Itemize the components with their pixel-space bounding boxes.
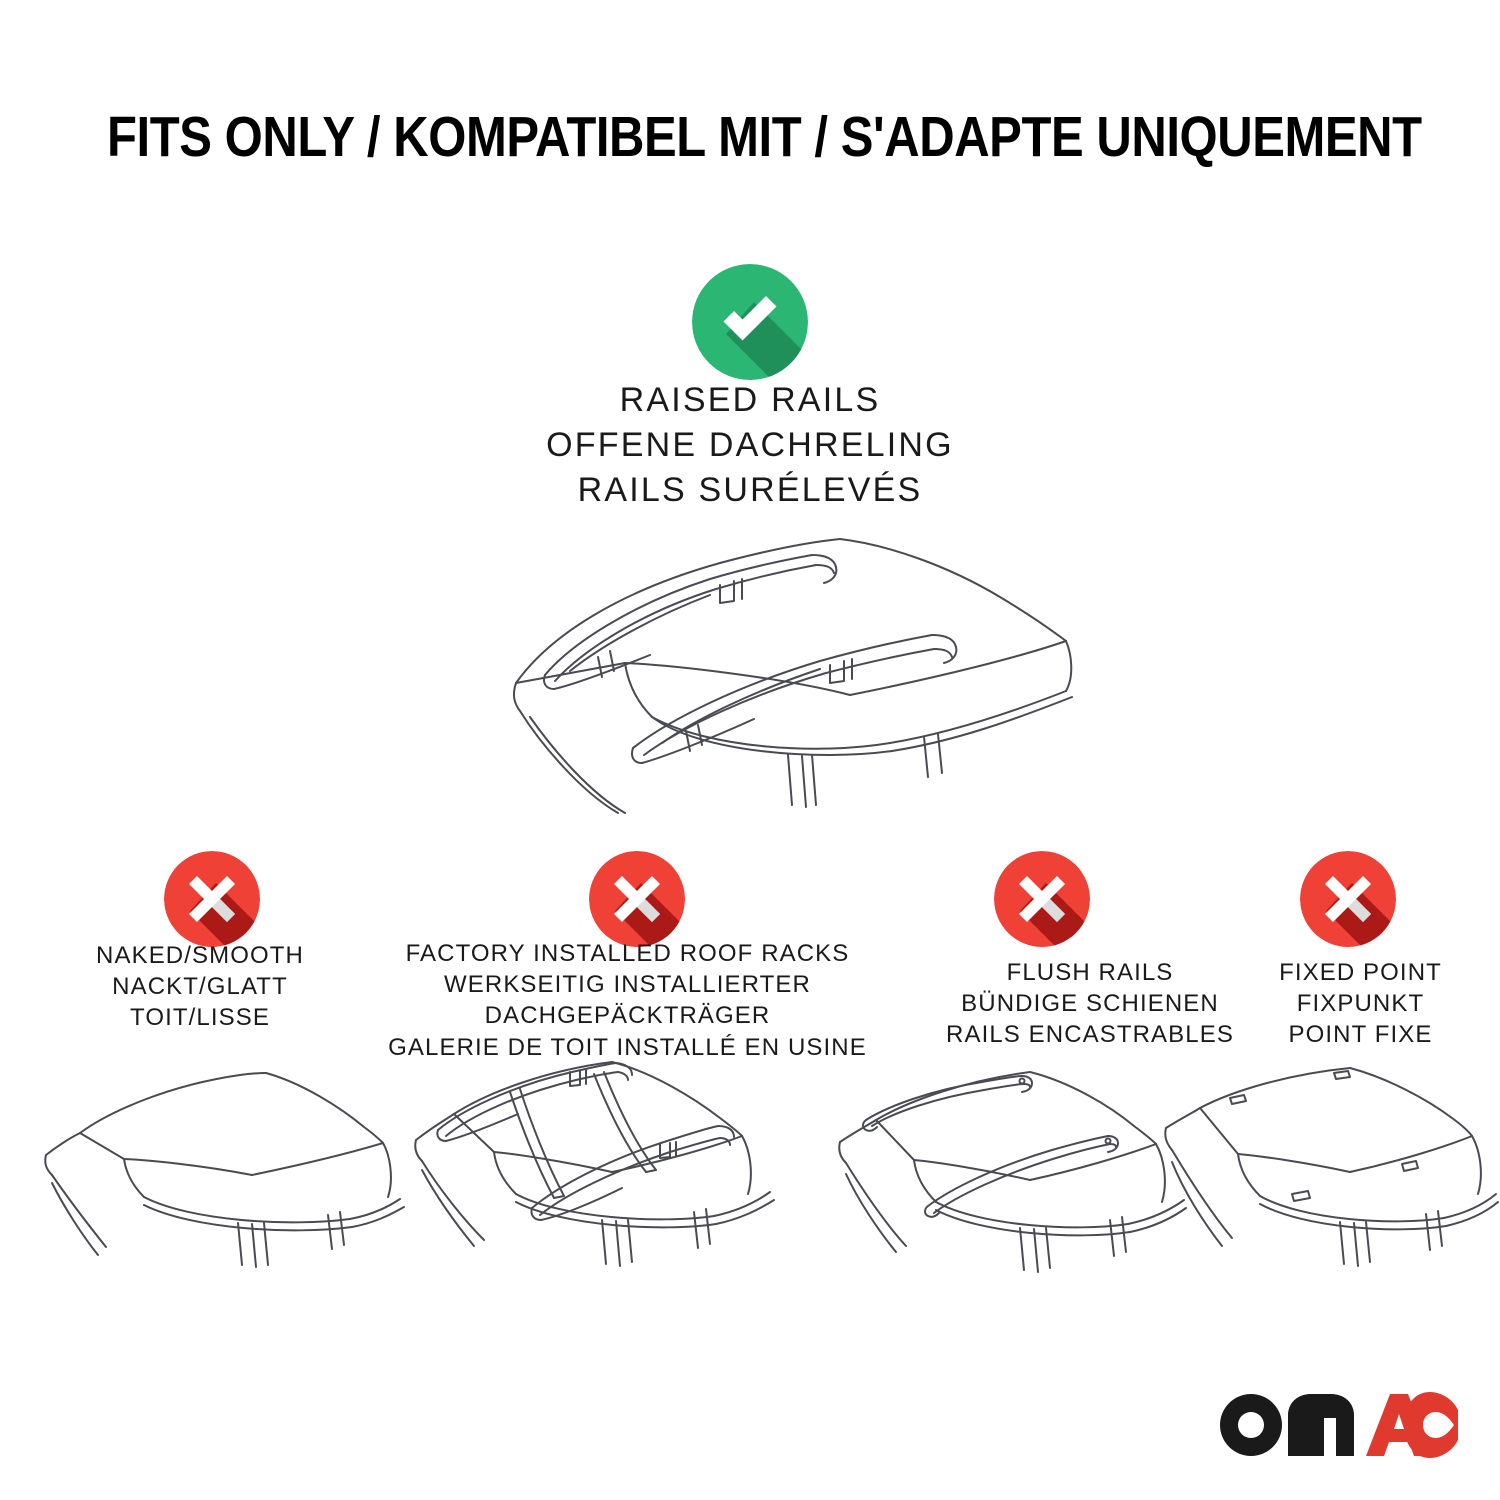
incompatible-label-line-3: DACHGEPÄCKTRÄGER: [385, 1000, 870, 1031]
incompatible-label-line-2: NACKT/GLATT: [30, 971, 370, 1002]
cross-circle-icon: [164, 851, 260, 947]
car-roof-raised-rails-illustration: [420, 505, 1080, 815]
compatible-label: RAISED RAILS OFFENE DACHRELING RAILS SUR…: [350, 378, 1150, 514]
incompatible-label-fixed-point: FIXED POINT FIXPUNKT POINT FIXE: [1228, 957, 1493, 1051]
incompatible-label-line-1: FIXED POINT: [1228, 957, 1493, 988]
car-roof-fixed-point-illustration: [1160, 1058, 1500, 1286]
incompatible-label-line-3: TOIT/LISSE: [30, 1002, 370, 1033]
car-roof-factory-racks-illustration: [408, 1048, 798, 1288]
incompatible-label-factory-racks: FACTORY INSTALLED ROOF RACKS WERKSEITIG …: [385, 938, 870, 1063]
cross-circle-icon: [994, 851, 1090, 947]
incompatible-label-naked-smooth: NAKED/SMOOTH NACKT/GLATT TOIT/LISSE: [30, 940, 370, 1034]
check-circle-icon: [692, 264, 808, 380]
compatible-label-line-1: RAISED RAILS: [350, 378, 1150, 423]
incompatible-label-line-2: WERKSEITIG INSTALLIERTER: [385, 969, 870, 1000]
incompatible-label-line-3: POINT FIXE: [1228, 1019, 1493, 1050]
car-roof-naked-smooth-illustration: [40, 1055, 410, 1285]
incompatible-label-line-1: NAKED/SMOOTH: [30, 940, 370, 971]
page-title: FITS ONLY / KOMPATIBEL MIT / S'ADAPTE UN…: [0, 104, 1500, 170]
compatible-label-line-2: OFFENE DACHRELING: [350, 423, 1150, 468]
incompatible-label-line-1: FACTORY INSTALLED ROOF RACKS: [385, 938, 870, 969]
page-title-text: FITS ONLY / KOMPATIBEL MIT / S'ADAPTE UN…: [107, 104, 1422, 170]
car-roof-flush-rails-illustration: [832, 1058, 1204, 1286]
cross-circle-icon: [1300, 851, 1396, 947]
cross-circle-icon: [589, 851, 685, 947]
incompatible-label-line-2: FIXPUNKT: [1228, 988, 1493, 1019]
omac-logo: [1218, 1392, 1458, 1458]
